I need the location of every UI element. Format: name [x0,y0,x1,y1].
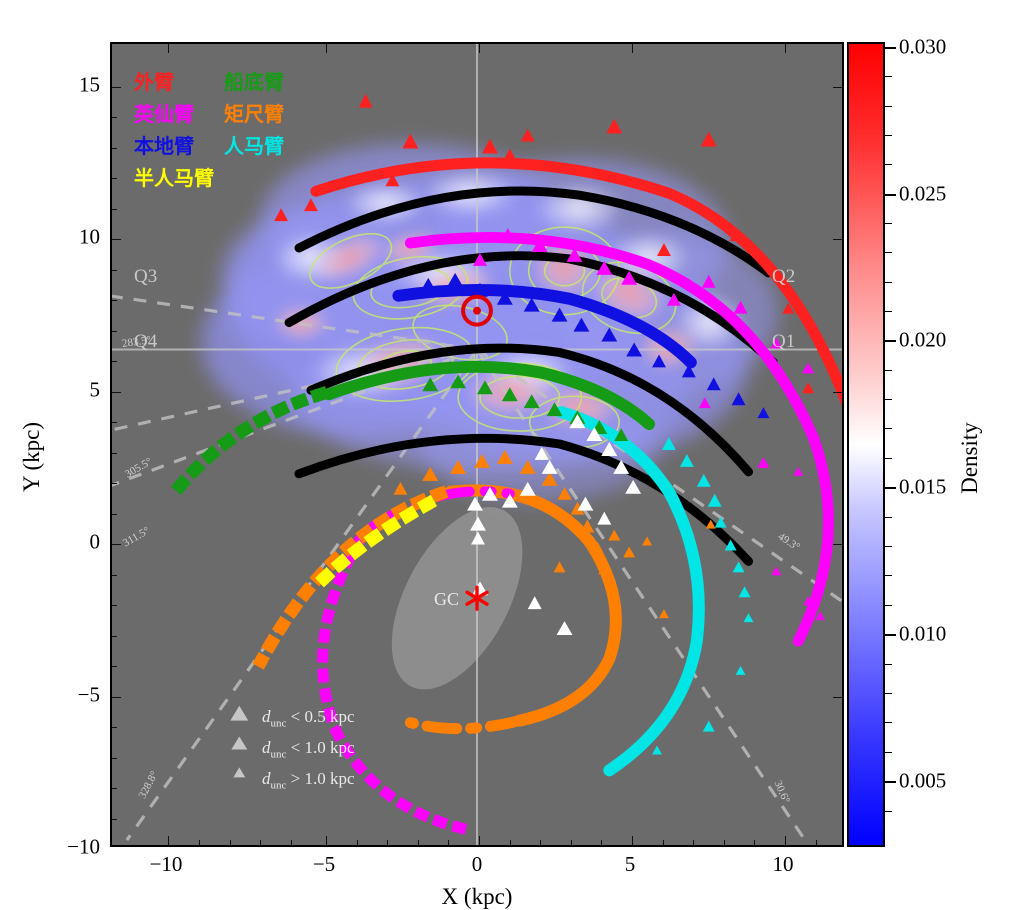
xtick-minor [199,840,200,845]
xtick-top [785,44,786,53]
cbticklabel-0-030: 0.030 [899,35,946,60]
ytick-minor [112,209,117,210]
cbtick-minor [885,517,892,518]
xtick-minor [260,840,261,845]
yticklabel--10: −10 [0,835,100,860]
ytick-minor [112,788,117,789]
ytick-minor [112,148,117,149]
ytick-right [833,544,842,545]
ytick-minor [112,666,117,667]
cbticklabel-0-010: 0.010 [899,622,946,647]
cbtick-minor [885,722,892,723]
cbtick-0-015 [885,487,896,489]
xticklabel--10: −10 [150,852,183,877]
ytick-minor [112,727,117,728]
ytick-minor [112,331,117,332]
size-legend-item-2: dunc < 1.0 kpc [262,738,355,760]
ytick-major-0 [112,544,121,545]
cbticklabel-0-005: 0.005 [899,769,946,794]
ytick-right [833,87,842,88]
cbtick-minor [885,664,892,665]
cbtick-minor [885,752,892,753]
xtick-minor [418,840,419,845]
cbtick-minor [885,811,892,812]
xticklabel-10: 10 [773,852,794,877]
cbtick-0-010 [885,634,896,636]
cbtick-0-025 [885,194,896,196]
yticklabel-10: 10 [0,225,100,250]
xticklabel--5: −5 [313,852,335,877]
cbticklabel-0-015: 0.015 [899,475,946,500]
cbtick-minor [885,106,892,107]
xtick-top [632,44,633,53]
xtick-minor [693,840,694,845]
ytick-minor [112,514,117,515]
xtick-minor [357,840,358,845]
ytick-minor [112,575,117,576]
cbtick-minor [885,311,892,312]
ytick-minor [112,117,117,118]
cbtick-minor [885,693,892,694]
ytick-minor [112,483,117,484]
cbticklabel-0-025: 0.025 [899,182,946,207]
xtick-minor [571,840,572,845]
cbtick-minor [885,164,892,165]
ytick-right [833,239,842,240]
ytick-minor [112,453,117,454]
ytick-right [833,392,842,393]
xtick-major-0 [479,836,480,845]
ytick-minor [112,636,117,637]
size-legend-item-1: dunc < 0.5 kpc [262,707,355,729]
xtick-major--10 [168,836,169,845]
yticklabel-5: 5 [0,378,100,403]
xtick-top [479,44,480,53]
cbtick-minor [885,605,892,606]
xtick-major-10 [785,836,786,845]
xtick-minor [540,840,541,845]
cbtick-minor [885,546,892,547]
ytick-minor [112,422,117,423]
cbtick-0-020 [885,340,896,342]
cbtick-minor [885,76,892,77]
xtick-major-5 [632,836,633,845]
ytick-minor [112,178,117,179]
xtick-top [326,44,327,53]
xticklabel-0: 0 [472,852,483,877]
ytick-minor [112,270,117,271]
yticklabel-0: 0 [0,530,100,555]
cbtick-minor [885,135,892,136]
ytick-minor [112,605,117,606]
ytick-minor [112,361,117,362]
ytick-major-10 [112,239,121,240]
xtick-minor [754,840,755,845]
xticklabel-5: 5 [625,852,636,877]
size-legend-item-3: dunc > 1.0 kpc [262,769,355,791]
marker-size-legend-glyphs [112,44,842,845]
xtick-minor [663,840,664,845]
xtick-minor [510,840,511,845]
cbtick-minor [885,370,892,371]
cbticklabel-0-020: 0.020 [899,328,946,353]
xtick-minor [291,840,292,845]
ytick-major--5 [112,697,121,698]
ytick-right [833,697,842,698]
cbtick-0-005 [885,781,896,783]
ytick-minor [112,758,117,759]
yticklabel--5: −5 [0,683,100,708]
cbtick-minor [885,575,892,576]
cbtick-minor [885,428,892,429]
cbtick-minor [885,399,892,400]
ytick-major-5 [112,392,121,393]
xtick-minor [724,840,725,845]
cbtick-0-030 [885,47,896,49]
xtick-minor [230,840,231,845]
cbtick-minor [885,458,892,459]
colorbar-title: Density [957,308,983,608]
cbtick-minor [885,252,892,253]
xtick-minor [448,840,449,845]
x-axis-title: X (kpc) [442,884,513,910]
ytick-major-15 [112,87,121,88]
xtick-minor [816,840,817,845]
xtick-top [168,44,169,53]
xtick-minor [387,840,388,845]
xtick-minor [601,840,602,845]
cbtick-minor [885,282,892,283]
density-colorbar [847,42,885,847]
scatter-plot-panel: 外臂 船底臂 英仙臂 矩尺臂 本地臂 人马臂 半人马臂 Q3 Q4 Q2 Q1 … [110,42,844,847]
cbtick-minor [885,223,892,224]
yticklabel-15: 15 [0,73,100,98]
xtick-major--5 [326,836,327,845]
y-axis-title: Y (kpc) [19,257,45,657]
ytick-minor [112,300,117,301]
ytick-minor [112,819,117,820]
